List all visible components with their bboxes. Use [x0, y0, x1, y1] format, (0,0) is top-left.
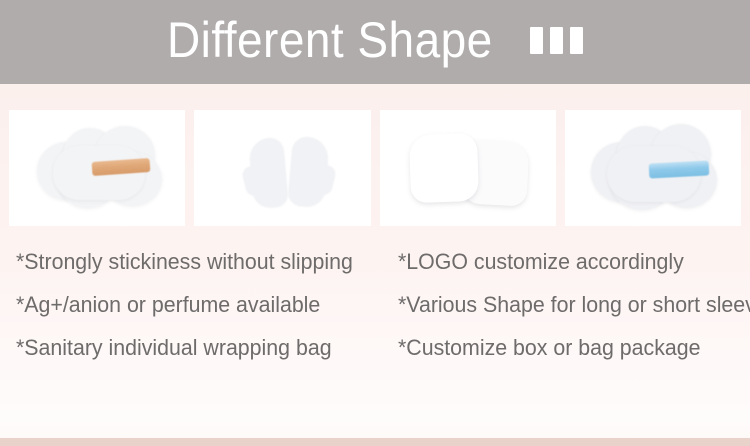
- header-mark-icons: [530, 27, 583, 54]
- product-photo-gallery: [9, 110, 741, 226]
- mitten-pair-pads-image: [194, 110, 370, 226]
- promo-banner: Different Shape: [0, 0, 750, 446]
- feature-item: *Various Shape for long or short sleeve: [398, 283, 739, 326]
- cloud-pad-beige-strip-image: [9, 110, 185, 226]
- feature-item: *LOGO customize accordingly: [398, 240, 739, 283]
- product-photo-card: [9, 110, 185, 226]
- product-photo-card: [194, 110, 370, 226]
- feature-list-right-column: *LOGO customize accordingly *Various Sha…: [397, 240, 750, 369]
- bottom-accent-strip: [0, 438, 750, 446]
- bar-mark-icon: [550, 27, 563, 54]
- feature-item: *Customize box or bag package: [398, 326, 739, 369]
- header-content: Different Shape: [167, 15, 582, 65]
- feature-list-left-column: *Strongly stickiness without slipping *A…: [0, 240, 397, 369]
- stacked-square-pads-image: [380, 110, 556, 226]
- feature-list: *Strongly stickiness without slipping *A…: [0, 240, 750, 369]
- header-bar: Different Shape: [0, 0, 750, 84]
- cloud-pad-blue-strip-image: [565, 110, 741, 226]
- product-photo-card: [565, 110, 741, 226]
- page-title: Different Shape: [167, 15, 493, 65]
- feature-item: *Strongly stickiness without slipping: [16, 240, 386, 283]
- pad-shape-front: [408, 133, 478, 203]
- product-photo-card: [380, 110, 556, 226]
- feature-item: *Sanitary individual wrapping bag: [16, 326, 386, 369]
- bar-mark-icon: [570, 27, 583, 54]
- feature-item: *Ag+/anion or perfume available: [16, 283, 386, 326]
- bottom-light-band: [0, 392, 750, 438]
- adhesive-strip-icon: [648, 160, 709, 178]
- bar-mark-icon: [530, 27, 543, 54]
